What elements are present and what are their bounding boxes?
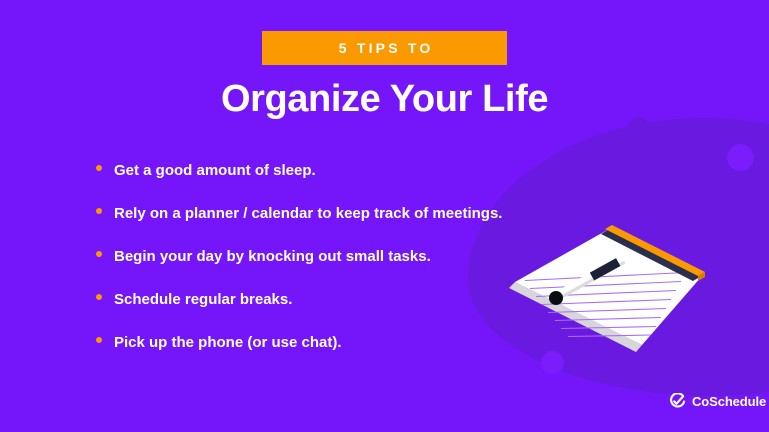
- bullet-dot-icon: [96, 294, 102, 300]
- list-item: Begin your day by knocking out small tas…: [96, 249, 566, 292]
- bullet-dot-icon: [96, 251, 102, 257]
- list-item: Rely on a planner / calendar to keep tra…: [96, 206, 566, 249]
- list-item-label: Begin your day by knocking out small tas…: [114, 249, 431, 264]
- notepad-illustration: [505, 222, 720, 352]
- bullet-dot-icon: [96, 208, 102, 214]
- brand-name: CoSchedule: [692, 395, 766, 408]
- slide-canvas: 5 TIPS TO Organize Your Life Get a good …: [0, 0, 769, 432]
- list-item: Pick up the phone (or use chat).: [96, 335, 566, 378]
- list-item-label: Pick up the phone (or use chat).: [114, 335, 342, 350]
- list-item-label: Rely on a planner / calendar to keep tra…: [114, 206, 502, 221]
- page-title: Organize Your Life: [0, 79, 769, 121]
- eyebrow-label: 5 TIPS TO: [336, 41, 434, 55]
- list-item-label: Get a good amount of sleep.: [114, 163, 316, 178]
- list-item-label: Schedule regular breaks.: [114, 292, 292, 307]
- eyebrow-banner: 5 TIPS TO: [262, 31, 507, 65]
- list-item: Get a good amount of sleep.: [96, 163, 566, 206]
- list-item: Schedule regular breaks.: [96, 292, 566, 335]
- bullet-dot-icon: [96, 337, 102, 343]
- brand-logo: CoSchedule: [669, 392, 766, 410]
- bullet-dot-icon: [96, 165, 102, 171]
- background-circle-light-top: [727, 144, 754, 171]
- tips-list: Get a good amount of sleep. Rely on a pl…: [96, 163, 566, 378]
- check-circle-icon: [669, 393, 686, 410]
